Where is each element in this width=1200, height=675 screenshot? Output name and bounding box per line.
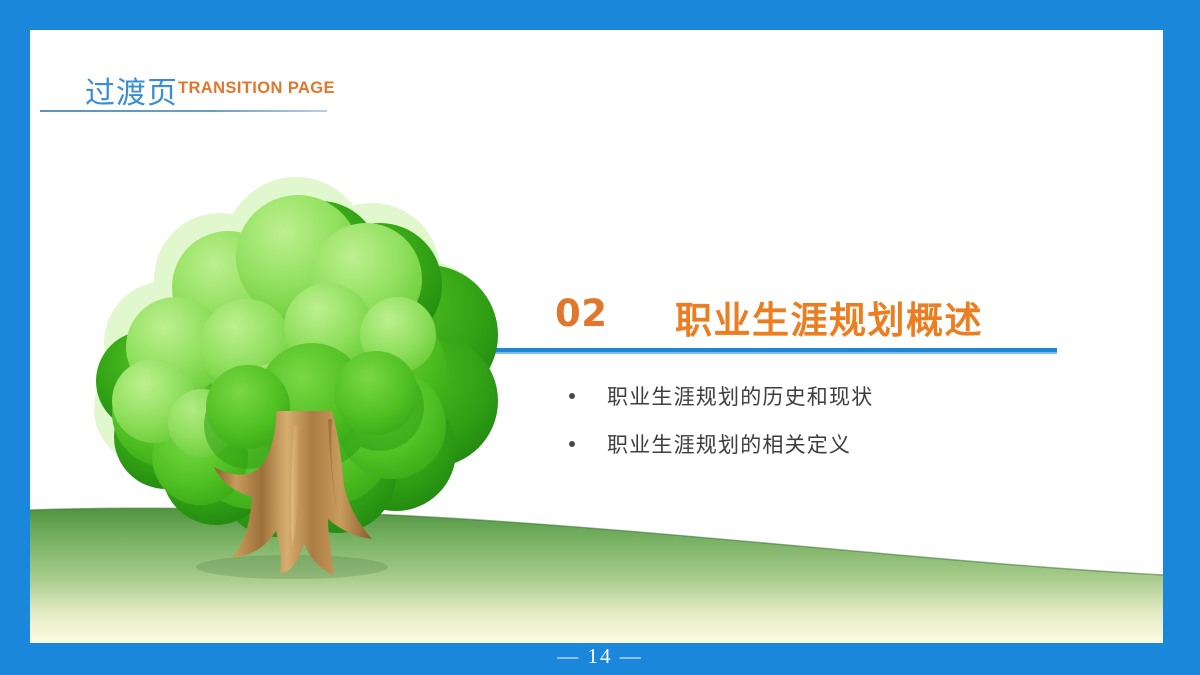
section-number: 02	[555, 292, 608, 335]
bullet-dot-icon	[569, 393, 575, 399]
section-bullet-list: 职业生涯规划的历史和现状 职业生涯规划的相关定义	[565, 372, 1085, 468]
bullet-dot-icon	[569, 441, 575, 447]
section-title: 职业生涯规划概述	[675, 290, 983, 344]
section-title-underline-soft	[460, 352, 1057, 354]
slide-content-panel: 过渡页 TRANSITION PAGE 02 职业生涯规划概述 职业生涯规划的历…	[30, 30, 1163, 643]
section-title-row: 02 职业生涯规划概述	[555, 292, 1115, 352]
header-title-cn: 过渡页	[85, 68, 178, 112]
tree-illustration	[80, 175, 500, 595]
slide-canvas: 过渡页 TRANSITION PAGE 02 职业生涯规划概述 职业生涯规划的历…	[0, 0, 1200, 675]
transition-header: 过渡页 TRANSITION PAGE	[40, 68, 360, 128]
list-item: 职业生涯规划的相关定义	[565, 420, 1085, 468]
bullet-label: 职业生涯规划的历史和现状	[607, 381, 873, 411]
header-underline	[40, 110, 327, 112]
page-number: — 14 —	[0, 644, 1200, 669]
bullet-label: 职业生涯规划的相关定义	[607, 429, 851, 459]
header-title-en: TRANSITION PAGE	[178, 79, 335, 98]
list-item: 职业生涯规划的历史和现状	[565, 372, 1085, 420]
